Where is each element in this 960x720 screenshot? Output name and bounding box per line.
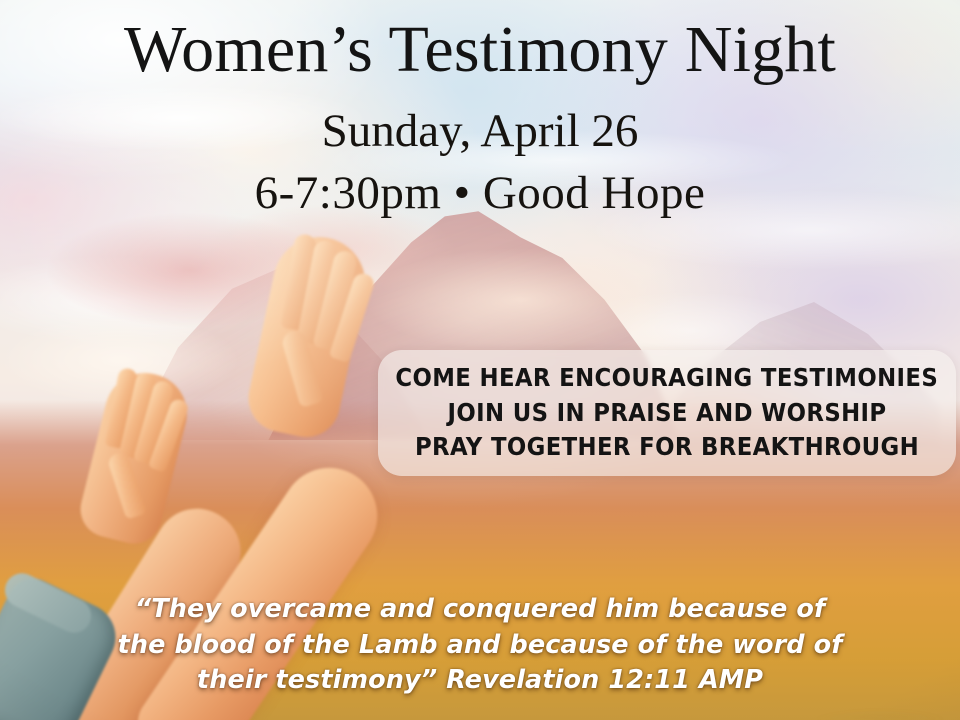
info-line-1: COME HEAR ENCOURAGING TESTIMONIES [396, 362, 939, 395]
scripture-line-1: “They overcame and conquered him because… [0, 592, 960, 628]
event-date: Sunday, April 26 [0, 104, 960, 158]
scripture-quote: “They overcame and conquered him because… [0, 592, 960, 699]
info-line-3: PRAY TOGETHER FOR BREAKTHROUGH [415, 431, 919, 464]
scripture-line-2: the blood of the Lamb and because of the… [0, 628, 960, 664]
flyer-content: Women’s Testimony Night Sunday, April 26… [0, 0, 960, 720]
event-time-location: 6-7:30pm • Good Hope [0, 166, 960, 220]
event-title: Women’s Testimony Night [0, 16, 960, 85]
scripture-line-3: their testimony” Revelation 12:11 AMP [0, 663, 960, 699]
info-line-2: JOIN US IN PRAISE AND WORSHIP [448, 397, 887, 430]
flyer-canvas: Women’s Testimony Night Sunday, April 26… [0, 0, 960, 720]
info-panel: COME HEAR ENCOURAGING TESTIMONIES JOIN U… [378, 350, 956, 476]
